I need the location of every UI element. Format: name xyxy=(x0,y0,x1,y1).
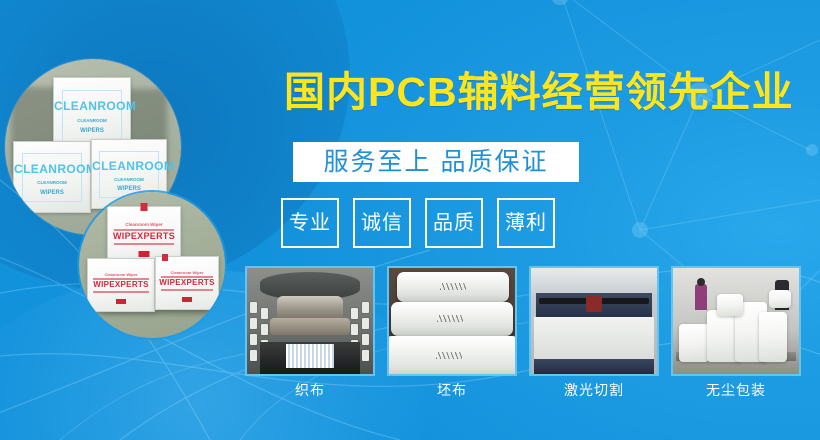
process-caption: 织布 xyxy=(245,383,375,397)
promo-banner: CLEANROOM CLEANROOM WIPERS CLEANROOM CLE… xyxy=(0,0,820,440)
wipexperts-pack: Cleanroom Wiper WIPEXPERTS xyxy=(87,258,155,312)
pack-subline-1: Cleanroom Wiper xyxy=(88,273,154,277)
process-item-laser-cutting[interactable]: 激光切割 xyxy=(529,266,659,397)
process-item-greige-fabric[interactable]: 坯布 xyxy=(387,266,517,397)
pack-brand: WIPEXPERTS xyxy=(156,279,218,287)
feature-tag-integrity[interactable]: 诚信 xyxy=(353,198,411,248)
wipexperts-pack: Cleanroom Wiper WIPEXPERTS xyxy=(155,256,219,310)
process-item-weaving[interactable]: 织布 xyxy=(245,266,375,397)
process-caption: 激光切割 xyxy=(529,383,659,397)
pack-brand: CLEANROOM xyxy=(92,160,166,172)
pack-subline-1: CLEANROOM xyxy=(54,119,130,124)
pack-subline-1: Cleanroom Wiper xyxy=(108,223,180,228)
subheadline-banner: 服务至上 品质保证 xyxy=(293,142,579,182)
process-item-cleanroom-packing[interactable]: 无尘包装 xyxy=(671,266,801,397)
pack-brand: CLEANROOM xyxy=(14,163,90,175)
process-caption: 坯布 xyxy=(387,383,517,397)
feature-tag-professional[interactable]: 专业 xyxy=(281,198,339,248)
subheadline-text: 服务至上 品质保证 xyxy=(324,150,549,175)
feature-tag-quality[interactable]: 品质 xyxy=(425,198,483,248)
process-photo-fabric-rolls xyxy=(387,266,517,376)
process-gallery: 织布 坯布 xyxy=(245,266,801,397)
page-title: 国内PCB辅料经营领先企业 xyxy=(284,72,794,113)
product-photo-wipexperts: Cleanroom Wiper WIPEXPERTS Cleanroom Wip… xyxy=(79,192,225,338)
process-photo-cleanroom-packing xyxy=(671,266,801,376)
pack-brand: WIPEXPERTS xyxy=(88,281,154,289)
process-photo-laser-cutter xyxy=(529,266,659,376)
pack-subline-2: WIPERS xyxy=(54,128,130,134)
pack-brand: CLEANROOM xyxy=(54,100,130,112)
pack-subline-1: CLEANROOM xyxy=(14,181,90,186)
pack-brand: WIPEXPERTS xyxy=(108,232,180,241)
pack-subline-1: Cleanroom Wiper xyxy=(156,271,218,275)
feature-tag-row: 专业 诚信 品质 薄利 xyxy=(281,198,555,248)
feature-tag-low-margin[interactable]: 薄利 xyxy=(497,198,555,248)
process-photo-knitting-machine xyxy=(245,266,375,376)
pack-subline-1: CLEANROOM xyxy=(92,178,166,183)
process-caption: 无尘包装 xyxy=(671,383,801,397)
